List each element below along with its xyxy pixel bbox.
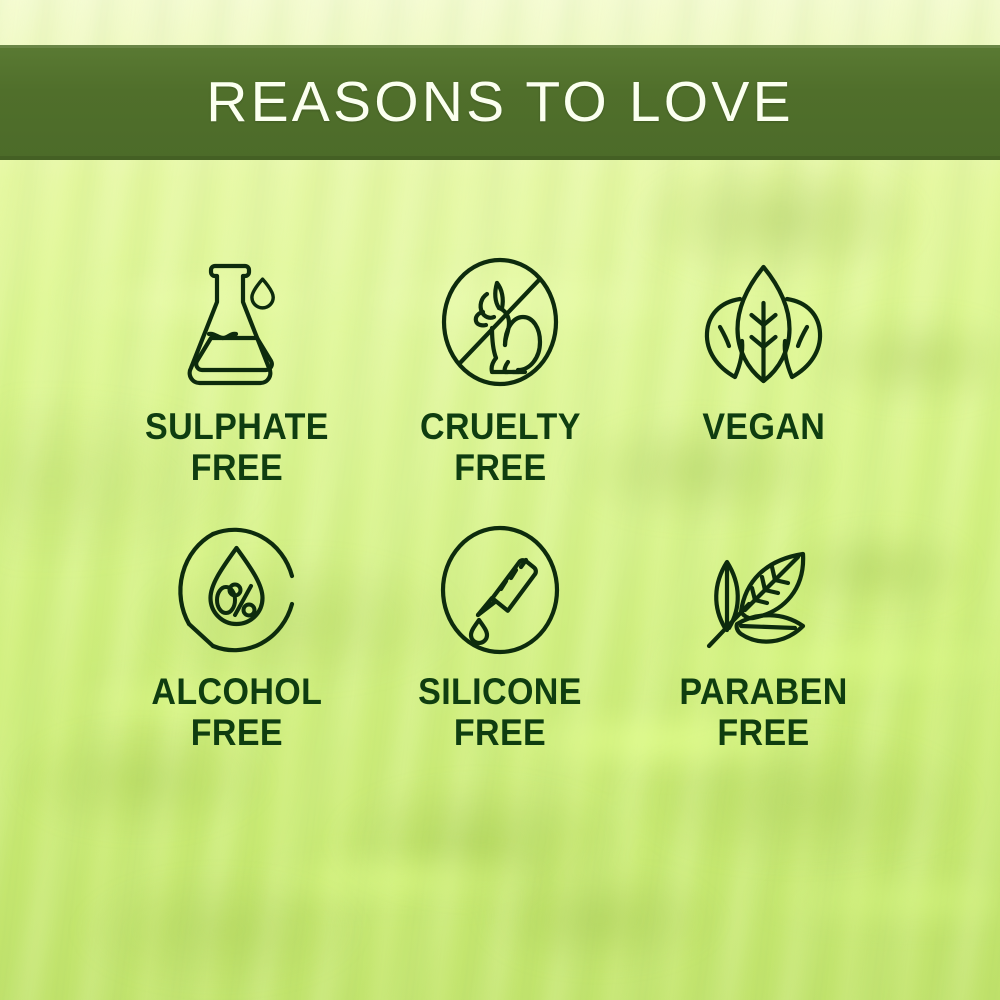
badge-label-line1: SULPHATE — [145, 406, 329, 447]
benefits-grid: SULPHATE FREE — [105, 245, 895, 785]
badge-label: ALCOHOL FREE — [151, 671, 322, 754]
badge-label-line2: FREE — [679, 712, 847, 753]
badge-sulphate-free: SULPHATE FREE — [105, 245, 368, 515]
dropper-pipette-icon — [434, 515, 566, 665]
badge-silicone-free: SILICONE FREE — [368, 515, 631, 785]
reasons-to-love-poster: REASONS TO LOVE SULPHATE FREE — [0, 0, 1000, 1000]
badge-label-line2: FREE — [418, 712, 582, 753]
flask-droplet-icon — [177, 245, 297, 400]
badge-paraben-free: PARABEN FREE — [632, 515, 895, 785]
badge-alcohol-free: ALCOHOL FREE — [105, 515, 368, 785]
badge-label-line1: PARABEN — [679, 671, 847, 712]
badge-vegan: VEGAN — [632, 245, 895, 515]
badge-label: VEGAN — [702, 406, 825, 447]
zero-percent-droplet-icon — [169, 515, 304, 665]
badge-label-line1: ALCOHOL — [151, 671, 322, 712]
three-leaves-icon — [696, 245, 831, 400]
header-banner: REASONS TO LOVE — [0, 45, 1000, 160]
badge-label: PARABEN FREE — [679, 671, 847, 754]
page-title: REASONS TO LOVE — [206, 74, 794, 131]
badge-label-line2: FREE — [420, 447, 581, 488]
badge-label-line2: FREE — [151, 712, 322, 753]
badge-cruelty-free: CRUELTY FREE — [368, 245, 631, 515]
badge-label: SULPHATE FREE — [145, 406, 329, 489]
badge-label: CRUELTY FREE — [420, 406, 581, 489]
badge-label-line1: CRUELTY — [420, 406, 581, 447]
no-animal-testing-icon — [435, 245, 565, 400]
badge-label-line1: VEGAN — [702, 406, 825, 447]
leaf-branch-icon — [691, 515, 836, 665]
badge-label-line1: SILICONE — [418, 671, 582, 712]
badge-label-line2: FREE — [145, 447, 329, 488]
badge-label: SILICONE FREE — [418, 671, 582, 754]
